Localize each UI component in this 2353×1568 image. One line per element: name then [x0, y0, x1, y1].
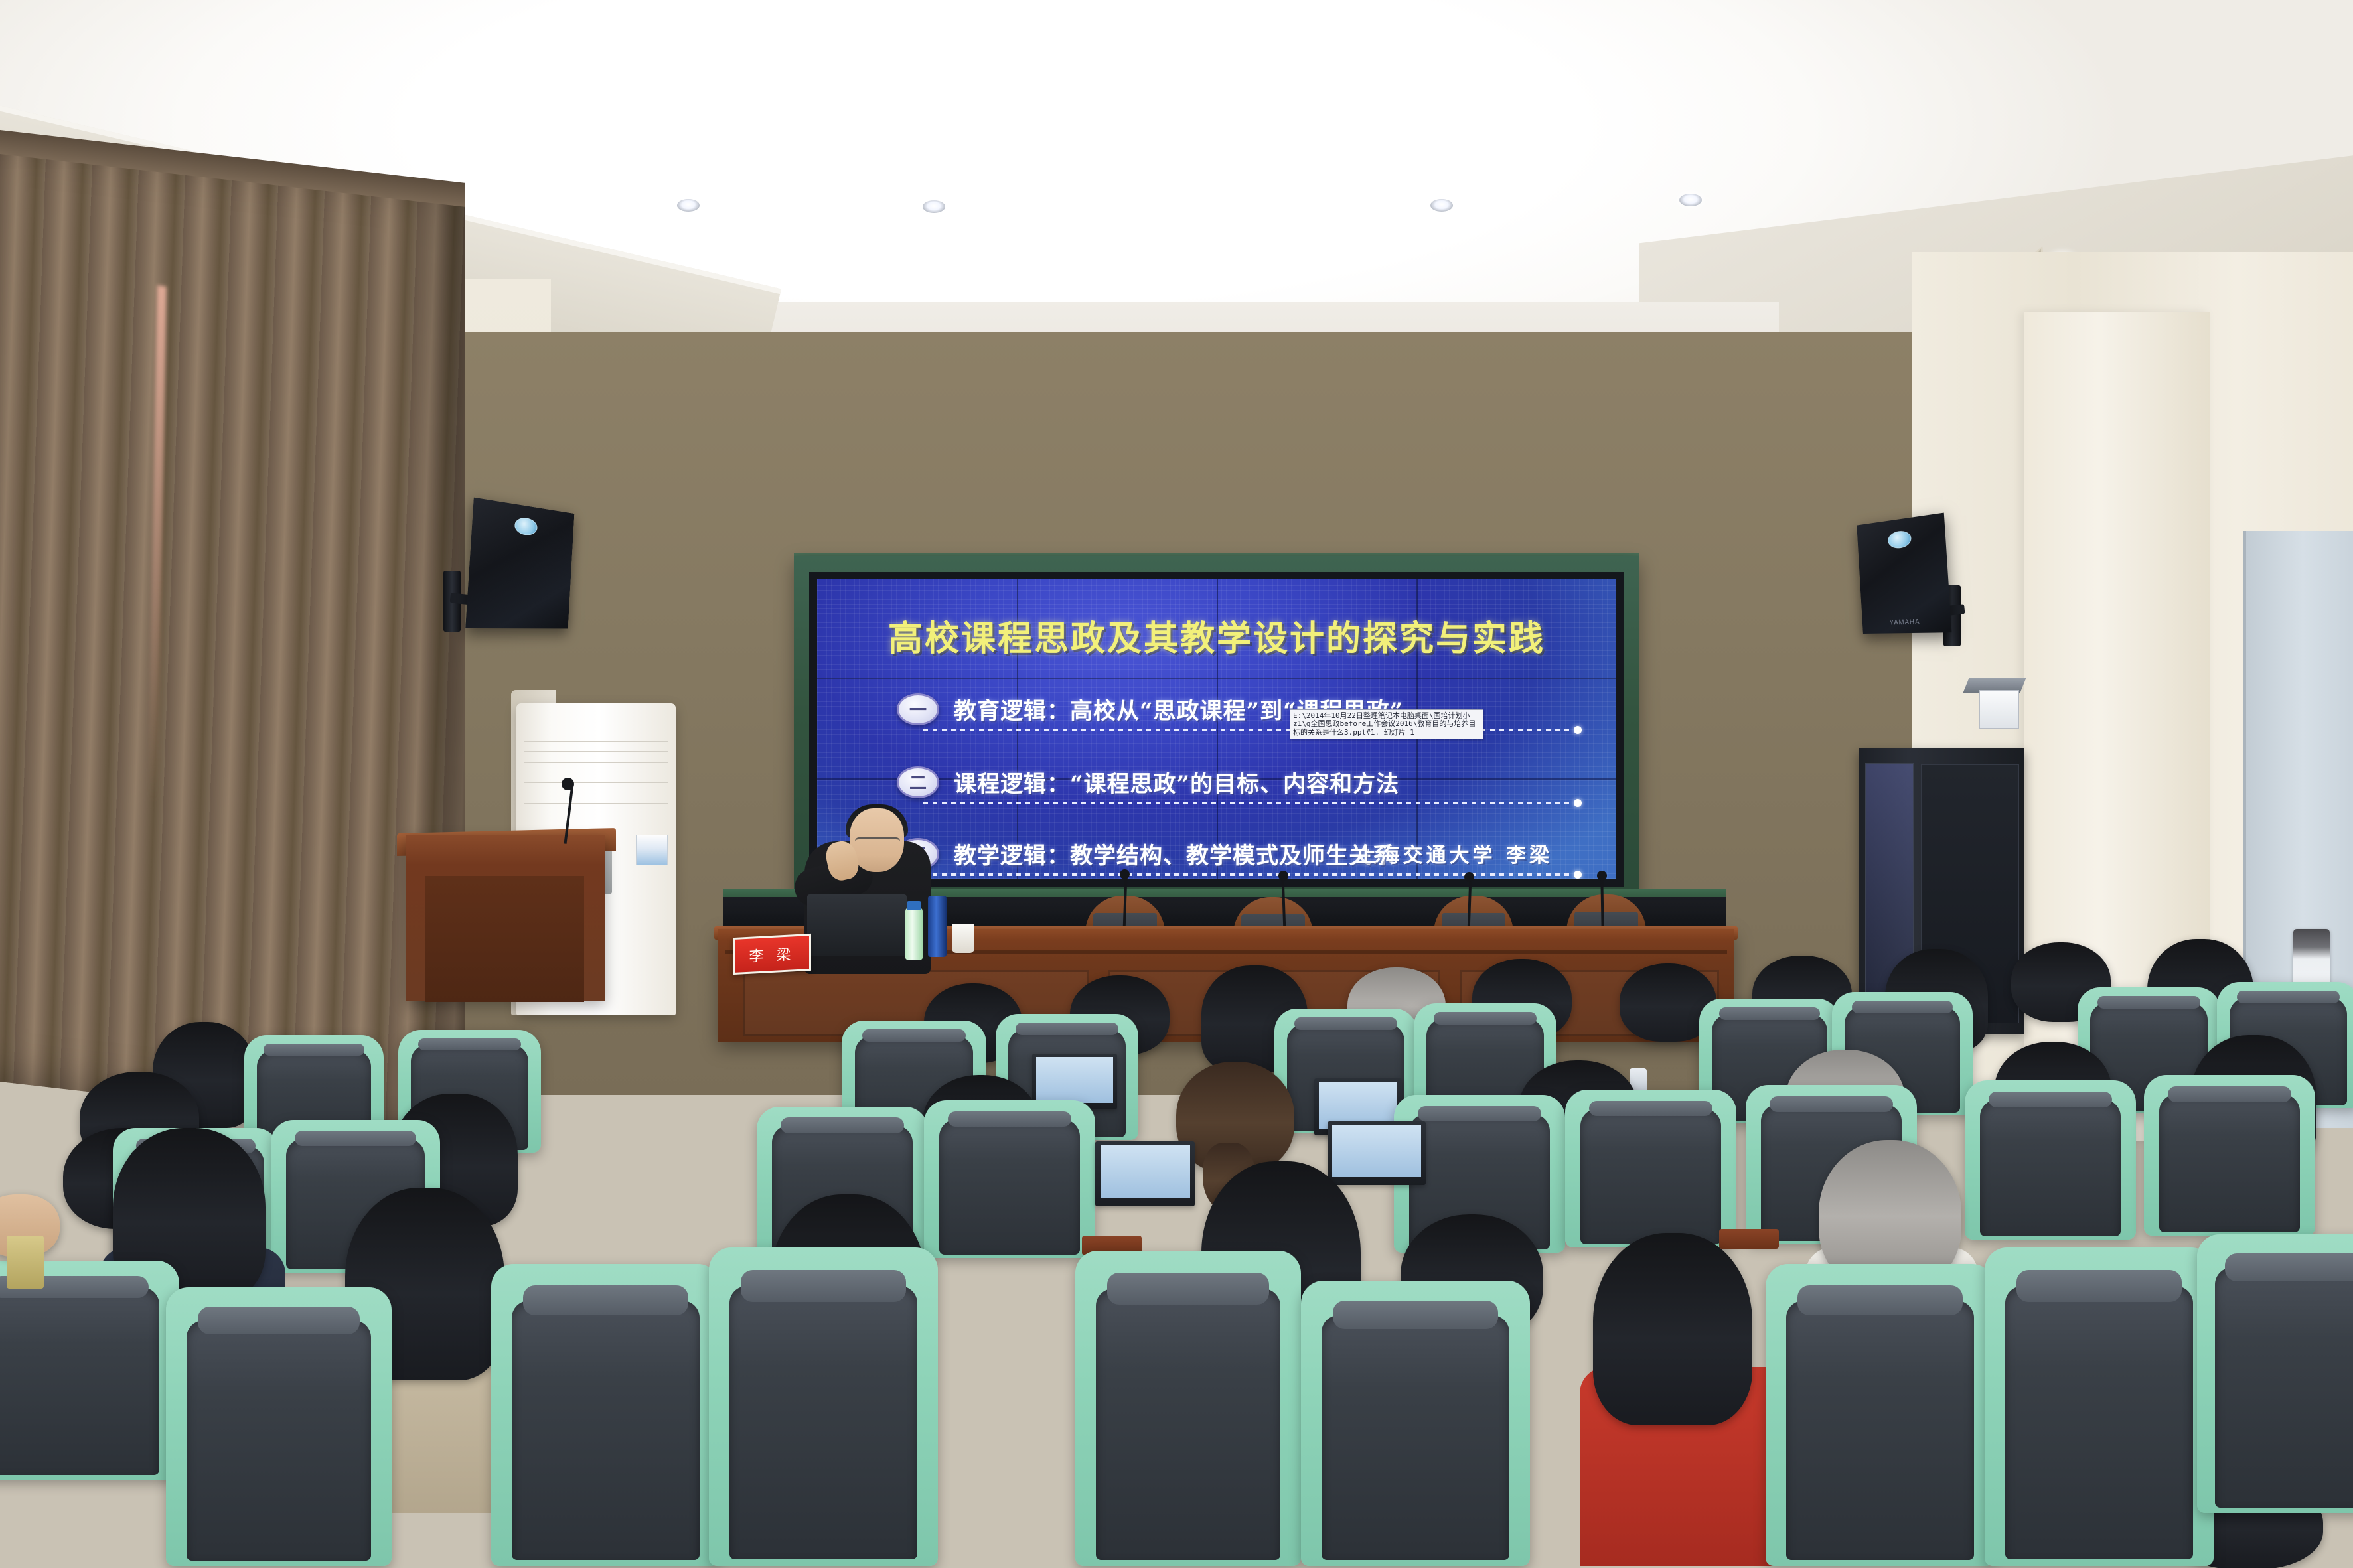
water-bottle: [905, 908, 923, 960]
bullet-underline-3: [923, 873, 1575, 876]
paper-cup: [952, 924, 974, 953]
seat-armrest: [1719, 1229, 1779, 1249]
presenter-nameplate: 李 梁: [733, 934, 811, 975]
audience-seat[interactable]: [1075, 1251, 1301, 1566]
audience-seat[interactable]: [166, 1287, 392, 1566]
slide-attribution: 上海交通大学 李梁: [1357, 839, 1553, 868]
bullet-end-dot-1: [1574, 726, 1582, 734]
microphone-head-icon: [1278, 871, 1288, 881]
lecture-hall-photo: 高校课程思政及其教学设计的探究与实践 一 教育逻辑：高校从“思政课程”到“课程思…: [0, 0, 2353, 1568]
powerpoint-path-tooltip: E:\2014年10月22日整理笔记本电脑桌面\国培计划小z1\g全国思政bef…: [1290, 709, 1483, 739]
downlight-icon: [923, 200, 945, 213]
bullet-marker-1: 一: [897, 693, 939, 725]
audience-seat[interactable]: [1965, 1080, 2136, 1240]
slide-bullet-2: 二 课程逻辑：“课程思政”的目标、内容和方法: [897, 766, 1576, 798]
presenter-laptop[interactable]: [807, 894, 907, 956]
microphone-head-icon: [1120, 869, 1130, 879]
audience-seat[interactable]: [1766, 1264, 1995, 1566]
audience-head: [1593, 1233, 1752, 1425]
bullet-end-dot-3: [1574, 871, 1582, 879]
slide-title: 高校课程思政及其教学设计的探究与实践: [817, 610, 1616, 660]
downlight-icon: [1679, 194, 1702, 206]
audience-seat[interactable]: [924, 1100, 1095, 1258]
speaker-badge-icon: [514, 516, 538, 536]
microphone-head-icon: [1597, 871, 1607, 881]
podium-front-panel: [425, 876, 584, 1002]
bullet-text-3: 教学逻辑：教学结构、教学模式及师生关系: [954, 837, 1395, 870]
downlight-icon: [1430, 199, 1453, 212]
bottle-cap: [907, 901, 921, 910]
bullet-end-dot-2: [1574, 799, 1582, 807]
bullet-text-2: 课程逻辑：“课程思政”的目标、内容和方法: [954, 766, 1399, 798]
energy-label-sticker: [636, 835, 668, 865]
audience-seat[interactable]: [491, 1264, 720, 1566]
audience-laptop[interactable]: [1328, 1121, 1426, 1185]
speaker-badge-icon: [1888, 530, 1912, 549]
audience-seat[interactable]: [1301, 1281, 1530, 1566]
audience-seat[interactable]: [2197, 1234, 2353, 1513]
audience-laptop[interactable]: [1095, 1141, 1195, 1206]
audience-seat[interactable]: [0, 1261, 179, 1480]
glasses-icon: [855, 837, 900, 847]
audience-seat[interactable]: [1565, 1090, 1736, 1247]
bullet-marker-2: 二: [897, 766, 939, 798]
microphone-head-icon: [562, 778, 574, 790]
audience-seat[interactable]: [1985, 1247, 2214, 1566]
presentation-slide: 高校课程思政及其教学设计的探究与实践 一 教育逻辑：高校从“思政课程”到“课程思…: [817, 579, 1616, 879]
audience-seat[interactable]: [709, 1247, 938, 1566]
audience-phone[interactable]: [7, 1236, 44, 1289]
microphone-head-icon: [1464, 872, 1474, 882]
thermos-flask: [928, 896, 947, 957]
speaker-brand-label: YAMAHA: [1889, 618, 1920, 626]
tile-seam: [817, 678, 1616, 679]
downlight-icon: [677, 199, 700, 212]
electrical-wall-box: [1979, 690, 2019, 729]
window-curtain: [0, 133, 465, 1135]
wall-speaker-right: YAMAHA: [1857, 513, 1951, 634]
bullet-underline-2: [923, 802, 1575, 804]
audience-seat[interactable]: [2144, 1075, 2315, 1236]
wall-speaker-left: [465, 498, 574, 629]
